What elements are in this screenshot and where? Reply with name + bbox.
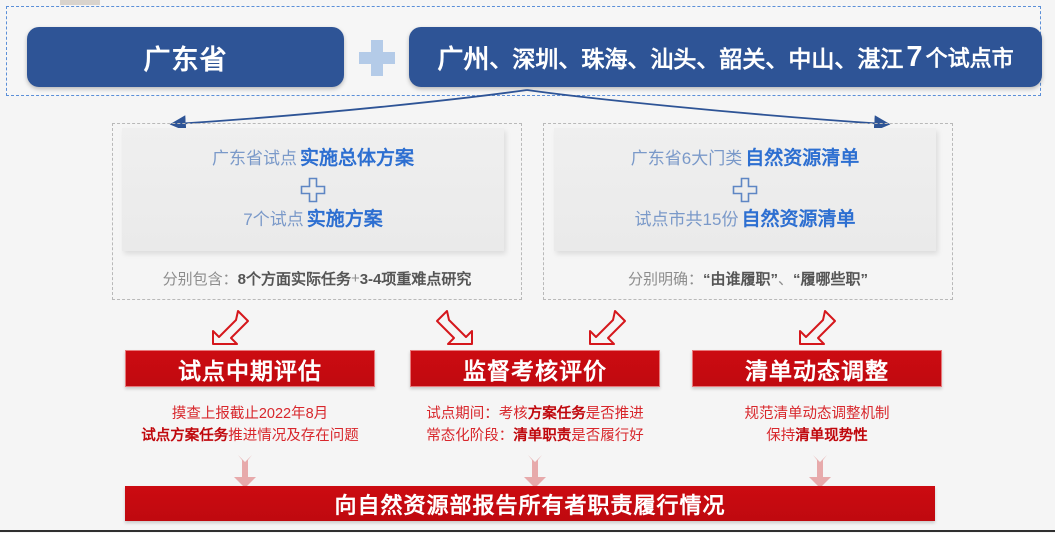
left-card-line1: 广东省试点实施总体方案 bbox=[212, 149, 414, 170]
red-card-3-sub2-bold: 清单现势性 bbox=[795, 428, 868, 444]
red-card-2-sub1-a: 试点期间：考核 bbox=[426, 406, 528, 422]
right-list-card[interactable]: 广东省6大门类自然资源清单 试点市共15份自然资源清单 bbox=[554, 128, 936, 251]
red-card-sub-3: 规范清单动态调整机制 保持清单现势性 bbox=[667, 403, 967, 448]
red-card-1-sub-line1: 摸查上报截止2022年8月 bbox=[100, 403, 400, 425]
left-card-line2-bold: 实施方案 bbox=[304, 209, 383, 230]
red-card-3-sub2-a: 保持 bbox=[766, 428, 795, 444]
red-card-1-sub2-bold: 试点方案任务 bbox=[141, 428, 228, 444]
right-card-line1: 广东省6大门类自然资源清单 bbox=[631, 149, 859, 170]
left-card-line2-light: 7个试点 bbox=[243, 210, 303, 229]
right-caption-sep: 、 bbox=[778, 268, 793, 289]
left-caption-sep: + bbox=[351, 270, 360, 287]
right-card-line2-light: 试点市共15份 bbox=[635, 210, 739, 229]
banner-label: 向自然资源部报告所有者职责履行情况 bbox=[334, 488, 725, 520]
province-box[interactable]: 广东省 bbox=[27, 27, 344, 87]
red-card-2-sub1-b: 是否推进 bbox=[586, 406, 644, 422]
red-card-1-sub1-text: 摸查上报截止2022年8月 bbox=[172, 406, 328, 422]
red-card-2-sub-line1: 试点期间：考核方案任务是否推进 bbox=[385, 403, 685, 425]
pilot-city-first: 广州 bbox=[437, 39, 489, 76]
slide-canvas: 广东省 广州、深圳、珠海、汕头、韶关、中山、湛江7个试点市 广东省试点实施总体方… bbox=[0, 0, 1055, 533]
red-card-2-sub-line2: 常态化阶段：清单职责是否履行好 bbox=[385, 425, 685, 447]
left-caption-bold-a: 8个方面实际任务 bbox=[238, 268, 351, 289]
bottom-rule bbox=[0, 530, 1055, 532]
red-card-1-sub2-text: 推进情况及存在问题 bbox=[228, 428, 359, 444]
right-card-line1-light: 广东省6大门类 bbox=[631, 149, 742, 168]
red-card-2-sub1-bold: 方案任务 bbox=[528, 406, 586, 422]
red-card-2-sub2-bold: 清单职责 bbox=[513, 428, 571, 444]
right-caption-bold-b: “履哪些职” bbox=[793, 268, 868, 289]
plus-outline-icon bbox=[300, 177, 326, 203]
plus-outline-icon bbox=[732, 177, 758, 203]
top-scope-region: 广东省 广州、深圳、珠海、汕头、韶关、中山、湛江7个试点市 bbox=[6, 6, 1041, 96]
pink-down-arrows bbox=[0, 455, 1055, 488]
left-caption-bold-b: 3-4项重难点研究 bbox=[360, 268, 472, 289]
red-card-3-sub-line2: 保持清单现势性 bbox=[667, 425, 967, 447]
red-card-2-sub2-a: 常态化阶段： bbox=[426, 428, 513, 444]
top-edge-artifact bbox=[60, 0, 100, 5]
red-card-3-sub1-text: 规范清单动态调整机制 bbox=[745, 406, 890, 422]
plus-icon bbox=[359, 40, 395, 76]
red-flow-arrows bbox=[0, 305, 1055, 350]
left-card-line2: 7个试点实施方案 bbox=[243, 210, 382, 231]
right-card-line2-bold: 自然资源清单 bbox=[738, 209, 855, 230]
pilot-city-list: 、深圳、珠海、汕头、韶关、中山、湛江 bbox=[489, 40, 903, 74]
red-card-3-label: 清单动态调整 bbox=[745, 352, 889, 386]
right-card-line1-bold: 自然资源清单 bbox=[742, 148, 859, 169]
red-card-3-sub-line1: 规范清单动态调整机制 bbox=[667, 403, 967, 425]
left-plan-card[interactable]: 广东省试点实施总体方案 7个试点实施方案 bbox=[122, 128, 504, 251]
right-card-line2: 试点市共15份自然资源清单 bbox=[635, 210, 856, 231]
left-card-line1-bold: 实施总体方案 bbox=[297, 148, 414, 169]
red-card-2-label: 监督考核评价 bbox=[463, 352, 607, 386]
pilot-cities-box[interactable]: 广州、深圳、珠海、汕头、韶关、中山、湛江7个试点市 bbox=[409, 27, 1042, 87]
red-card-title-2[interactable]: 监督考核评价 bbox=[410, 350, 660, 387]
red-card-1-sub-line2: 试点方案任务推进情况及存在问题 bbox=[100, 425, 400, 447]
left-group-caption: 分别包含：8个方面实际任务 + 3-4项重难点研究 bbox=[112, 258, 522, 298]
red-card-title-3[interactable]: 清单动态调整 bbox=[692, 350, 942, 387]
red-card-sub-1: 摸查上报截止2022年8月 试点方案任务推进情况及存在问题 bbox=[100, 403, 400, 448]
right-caption-bold-a: “由谁履职” bbox=[703, 268, 778, 289]
pilot-city-count: 7 bbox=[903, 41, 925, 74]
red-card-title-1[interactable]: 试点中期评估 bbox=[125, 350, 375, 387]
red-card-2-sub2-b: 是否履行好 bbox=[571, 428, 644, 444]
pilot-city-suffix: 个试点市 bbox=[926, 41, 1014, 73]
red-card-sub-2: 试点期间：考核方案任务是否推进 常态化阶段：清单职责是否履行好 bbox=[385, 403, 685, 448]
left-caption-label: 分别包含： bbox=[163, 268, 238, 289]
right-caption-label: 分别明确： bbox=[628, 268, 703, 289]
bottom-report-banner[interactable]: 向自然资源部报告所有者职责履行情况 bbox=[125, 486, 935, 521]
right-group-caption: 分别明确：“由谁履职”、“履哪些职” bbox=[543, 258, 953, 298]
left-card-line1-light: 广东省试点 bbox=[212, 149, 297, 168]
province-label: 广东省 bbox=[144, 38, 228, 77]
red-card-1-label: 试点中期评估 bbox=[178, 352, 322, 386]
